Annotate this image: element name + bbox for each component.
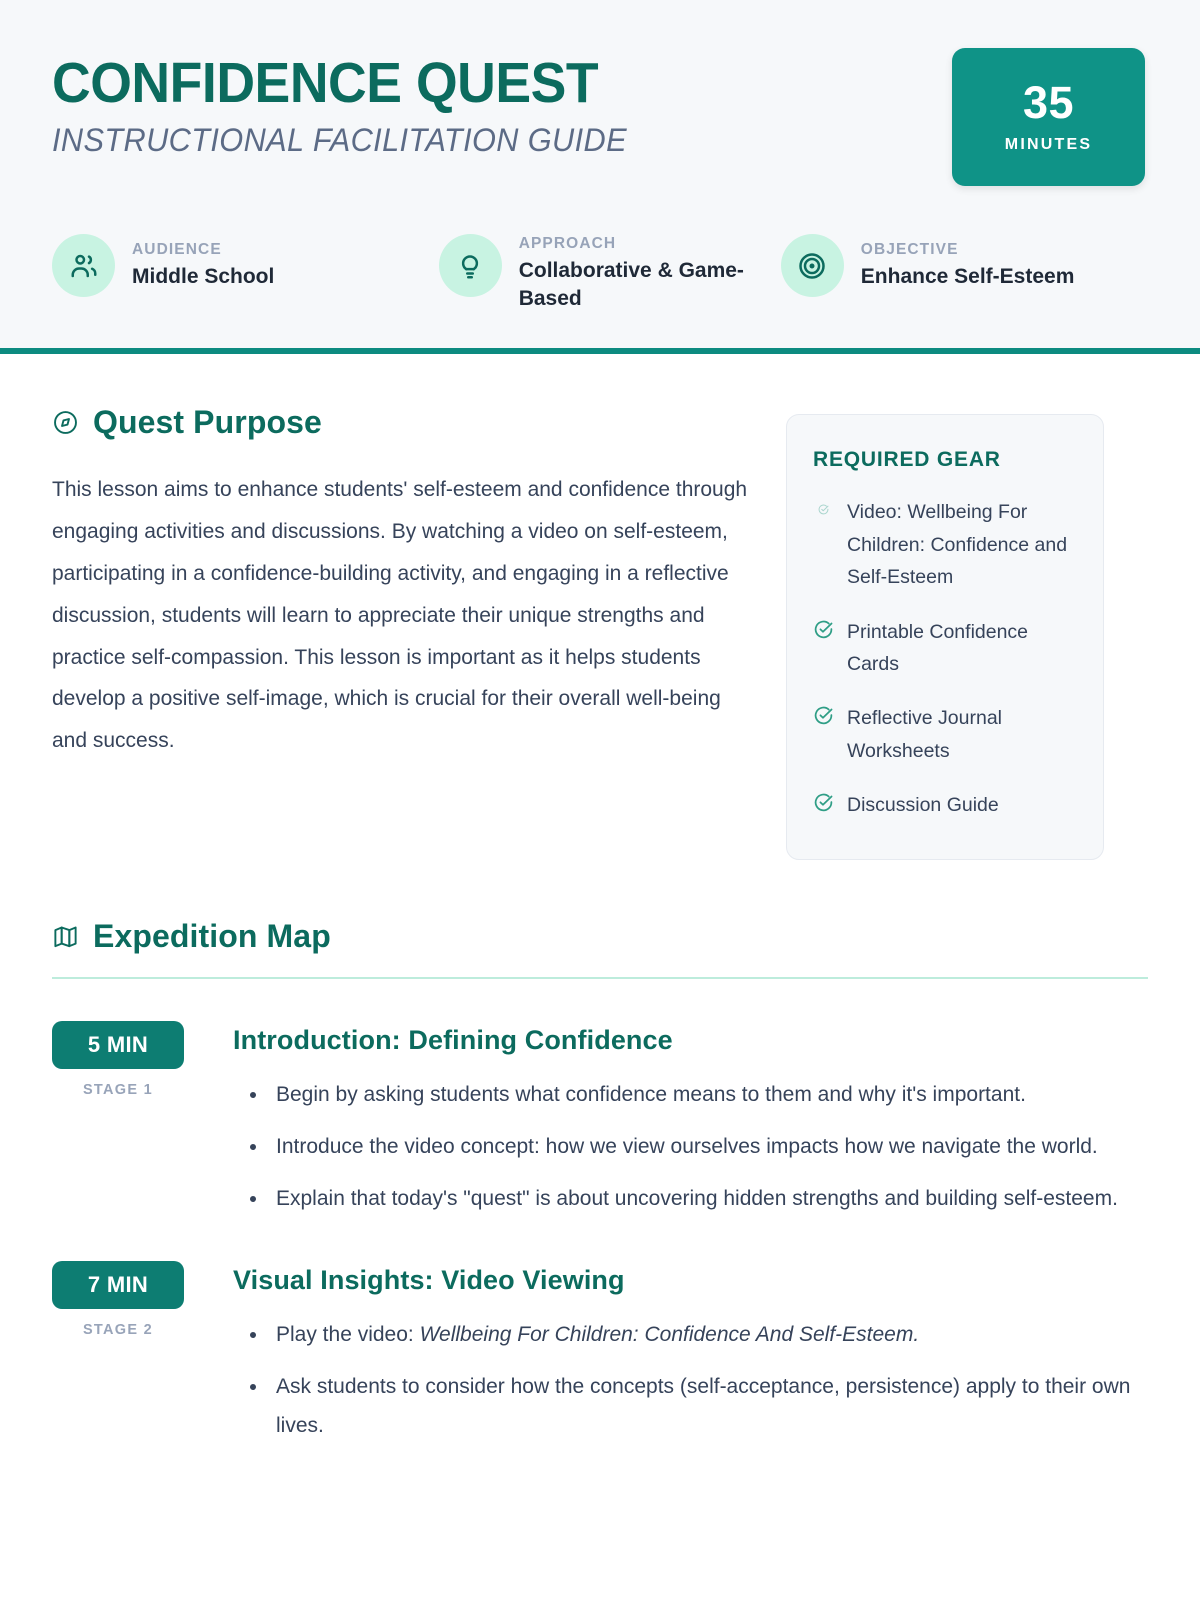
gear-item-label: Printable Confidence Cards [847, 616, 1077, 681]
purpose-section-header: Quest Purpose [52, 404, 758, 441]
required-gear-card: REQUIRED GEAR Video: Wellbeing For Child… [786, 414, 1104, 860]
lightbulb-icon [439, 234, 502, 297]
meta-value-approach: Collaborative & Game-Based [519, 257, 781, 312]
expedition-divider [52, 977, 1148, 979]
duration-badge: 35 MINUTES [952, 48, 1145, 186]
stage-row: 7 MIN STAGE 2 Visual Insights: Video Vie… [52, 1259, 1148, 1446]
stage-number-label: STAGE 2 [52, 1322, 184, 1338]
required-gear-list: Video: Wellbeing For Children: Confidenc… [813, 496, 1077, 821]
gear-item-label: Discussion Guide [847, 789, 999, 821]
check-circle-icon [818, 504, 830, 516]
expedition-section-header: Expedition Map [52, 918, 1148, 955]
gear-column: REQUIRED GEAR Video: Wellbeing For Child… [786, 404, 1104, 860]
stage-time-pill: 5 MIN [52, 1021, 184, 1069]
expedition-map-section: Expedition Map 5 MIN STAGE 1 Introductio… [0, 918, 1200, 1445]
stage-right-col: Visual Insights: Video Viewing Play the … [233, 1259, 1148, 1446]
meta-item-objective: OBJECTIVE Enhance Self-Esteem [781, 234, 1108, 297]
duration-value: 35 [1023, 80, 1074, 125]
check-circle-icon [813, 619, 834, 640]
check-circle-icon [813, 792, 834, 813]
stage-bullet: Explain that today's "quest" is about un… [269, 1180, 1148, 1219]
stage-bullet-list: Play the video: Wellbeing For Children: … [233, 1316, 1148, 1446]
gear-list-item: Printable Confidence Cards [813, 616, 1077, 681]
stage-bullet: Play the video: Wellbeing For Children: … [269, 1316, 1148, 1355]
gear-item-label: Video: Wellbeing For Children: Confidenc… [847, 496, 1077, 593]
target-icon [781, 234, 844, 297]
stage-bullet-list: Begin by asking students what confidence… [233, 1076, 1148, 1219]
meta-value-objective: Enhance Self-Esteem [861, 263, 1075, 291]
stage-right-col: Introduction: Defining Confidence Begin … [233, 1019, 1148, 1219]
page-subtitle: INSTRUCTIONAL FACILITATION GUIDE [52, 122, 627, 159]
gear-list-item: Discussion Guide [813, 789, 1077, 821]
stage-left-col: 7 MIN STAGE 2 [52, 1259, 233, 1446]
title-block: CONFIDENCE QUEST INSTRUCTIONAL FACILITAT… [52, 48, 651, 159]
purpose-column: Quest Purpose This lesson aims to enhanc… [52, 404, 758, 860]
compass-icon [52, 409, 79, 436]
meta-label-approach: APPROACH [519, 235, 781, 253]
stage-row: 5 MIN STAGE 1 Introduction: Defining Con… [52, 1019, 1148, 1219]
stage-left-col: 5 MIN STAGE 1 [52, 1019, 233, 1219]
purpose-paragraph: This lesson aims to enhance students' se… [52, 469, 752, 761]
page-header: CONFIDENCE QUEST INSTRUCTIONAL FACILITAT… [0, 0, 1200, 354]
meta-text-objective: OBJECTIVE Enhance Self-Esteem [861, 240, 1075, 291]
meta-text-approach: APPROACH Collaborative & Game-Based [519, 234, 781, 312]
page-title: CONFIDENCE QUEST [52, 54, 615, 113]
users-icon [52, 234, 115, 297]
stage-number-label: STAGE 1 [52, 1082, 184, 1098]
required-gear-title: REQUIRED GEAR [813, 448, 1077, 472]
stage-bullet: Introduce the video concept: how we view… [269, 1128, 1148, 1167]
header-top-row: CONFIDENCE QUEST INSTRUCTIONAL FACILITAT… [52, 48, 1148, 186]
check-circle-icon [813, 705, 834, 726]
meta-text-audience: AUDIENCE Middle School [132, 240, 274, 291]
header-meta-row: AUDIENCE Middle School APPROACH Collab [52, 234, 1148, 312]
stage-title: Introduction: Defining Confidence [233, 1025, 1148, 1056]
gear-item-label: Reflective Journal Worksheets [847, 702, 1077, 767]
map-icon [52, 923, 79, 950]
stage-bullet: Ask students to consider how the concept… [269, 1368, 1148, 1446]
stage-title: Visual Insights: Video Viewing [233, 1265, 1148, 1296]
expedition-heading: Expedition Map [93, 918, 331, 955]
meta-label-objective: OBJECTIVE [861, 241, 1075, 259]
meta-value-audience: Middle School [132, 263, 274, 291]
stage-time-pill: 7 MIN [52, 1261, 184, 1309]
meta-label-audience: AUDIENCE [132, 241, 274, 259]
purpose-heading: Quest Purpose [93, 404, 322, 441]
meta-item-audience: AUDIENCE Middle School [52, 234, 439, 297]
stage-bullet: Begin by asking students what confidence… [269, 1076, 1148, 1115]
facilitation-guide-page: CONFIDENCE QUEST INSTRUCTIONAL FACILITAT… [0, 0, 1200, 1600]
gear-list-item: Video: Wellbeing For Children: Confidenc… [813, 496, 1077, 593]
meta-item-approach: APPROACH Collaborative & Game-Based [439, 234, 781, 312]
body-columns: Quest Purpose This lesson aims to enhanc… [0, 354, 1200, 860]
duration-unit: MINUTES [1005, 136, 1092, 154]
gear-list-item: Reflective Journal Worksheets [813, 702, 1077, 767]
